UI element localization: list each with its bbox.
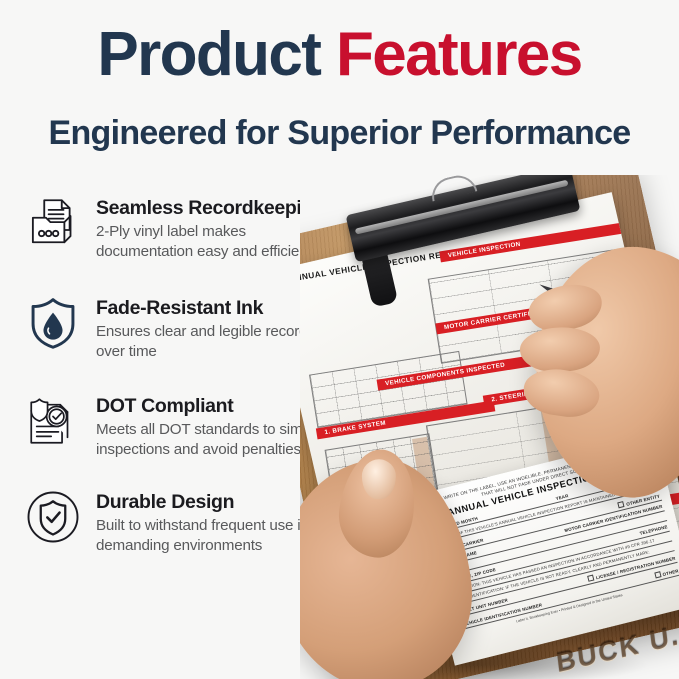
feature-title: Durable Design [96,492,334,513]
photo-scene: BUCK U. ANNUAL VEHICLE INSPECTION REPORT… [300,175,679,679]
checkbox-icon [618,501,625,508]
document-file-box-icon [22,192,84,254]
feature-description: Built to withstand frequent use in deman… [96,516,334,556]
thumbnail [362,459,396,499]
page-subtitle: Engineered for Superior Performance [0,115,679,152]
feature-text-dot-compliant: DOT Compliant Meets all DOT standards to… [96,390,334,460]
shield-check-circle-icon [22,486,84,548]
feature-description: 2-Ply vinyl label makes documentation ea… [96,222,334,262]
page-title-word-features: Features [336,20,582,89]
feature-description: Ensures clear and legible records over t… [96,322,334,362]
feature-title: Fade-Resistant Ink [96,298,334,319]
feature-item-fade-resistant-ink: Fade-Resistant Ink Ensures clear and leg… [22,292,334,362]
feature-title: DOT Compliant [96,396,334,417]
feature-text-recordkeeping: Seamless Recordkeeping 2-Ply vinyl label… [96,192,334,262]
product-photo: BUCK U. ANNUAL VEHICLE INSPECTION REPORT… [300,175,679,679]
feature-item-recordkeeping: Seamless Recordkeeping 2-Ply vinyl label… [22,192,334,262]
feature-text-fade-resistant-ink: Fade-Resistant Ink Ensures clear and leg… [96,292,334,362]
product-features-canvas: Product Features Engineered for Superior… [0,0,679,679]
page-title-word-product: Product [97,20,320,89]
feature-title: Seamless Recordkeeping [96,198,334,219]
checkbox-icon [587,575,594,582]
feature-text-durable-design: Durable Design Built to withstand freque… [96,486,334,556]
feature-item-durable-design: Durable Design Built to withstand freque… [22,486,334,556]
feature-description: Meets all DOT standards to simplify insp… [96,420,334,460]
page-title: Product Features [0,24,679,86]
checkbox-icon [654,571,661,578]
feature-list: Seamless Recordkeeping 2-Ply vinyl label… [22,192,334,578]
shield-ink-drop-icon [22,292,84,354]
feature-item-dot-compliant: DOT Compliant Meets all DOT standards to… [22,390,334,460]
document-check-shield-icon [22,390,84,452]
finger [519,326,600,373]
